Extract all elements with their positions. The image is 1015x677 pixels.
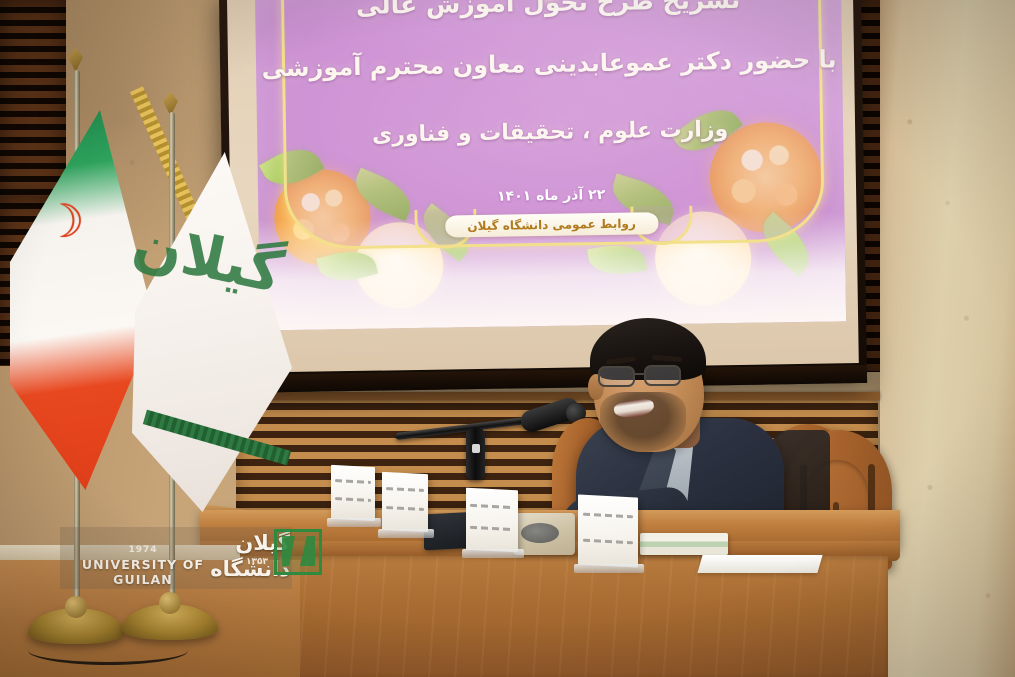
watermark-year-persian: ۱۳۵۳ (246, 557, 268, 567)
placard-stand (574, 564, 644, 573)
photo-scene: تشریح طرح تحول آموزش عالی با حضور دکتر ع… (0, 0, 1015, 677)
paper-sheet (697, 555, 822, 573)
panel-table-front (228, 556, 888, 677)
placard-text-line (386, 506, 425, 511)
placard-text-line (386, 487, 425, 492)
watermark-year-english: 1974 (68, 545, 218, 555)
projection-screen-frame: تشریح طرح تحول آموزش عالی با حضور دکتر ع… (219, 0, 867, 393)
name-placard (466, 488, 518, 553)
placard-stand (327, 518, 381, 527)
microphone-switch[interactable] (472, 444, 480, 453)
placard-stand (462, 549, 524, 558)
watermark-plate: 1974 UNIVERSITY OF GUILAN گیلان دانشگاه … (60, 527, 292, 589)
name-placard (331, 465, 375, 521)
microphone-clip[interactable] (466, 428, 485, 480)
projected-slide: تشریح طرح تحول آموزش عالی با حضور دکتر ع… (255, 0, 847, 330)
placard-text-line (583, 513, 633, 519)
guilan-logo-icon (274, 529, 322, 575)
eyeglass-lens (644, 365, 681, 386)
placard-stand (378, 529, 434, 538)
iran-flag-emblem-icon: ☽ (34, 196, 94, 248)
placard-text-line (335, 497, 372, 502)
projection-screen-surface: تشریح طرح تحول آموزش عالی با حضور دکتر ع… (227, 0, 859, 373)
stone-pillar (880, 0, 1015, 677)
placard-text-line (470, 504, 514, 509)
placard-text-line (470, 526, 514, 531)
slat-wall-top-rail (228, 392, 880, 400)
slide-publisher-badge: روابط عمومی دانشگاه گیلان (445, 212, 658, 237)
acoustic-slat-panel-left-upper (0, 0, 66, 200)
name-placard (382, 472, 428, 532)
name-placard (578, 494, 638, 567)
speaker-eyeglasses (598, 366, 702, 384)
placard-text-line (583, 539, 633, 545)
eyeglass-bridge (633, 373, 645, 375)
book-stack (640, 533, 728, 555)
placard-text-line (335, 479, 372, 484)
eyeglass-lens (598, 366, 635, 387)
